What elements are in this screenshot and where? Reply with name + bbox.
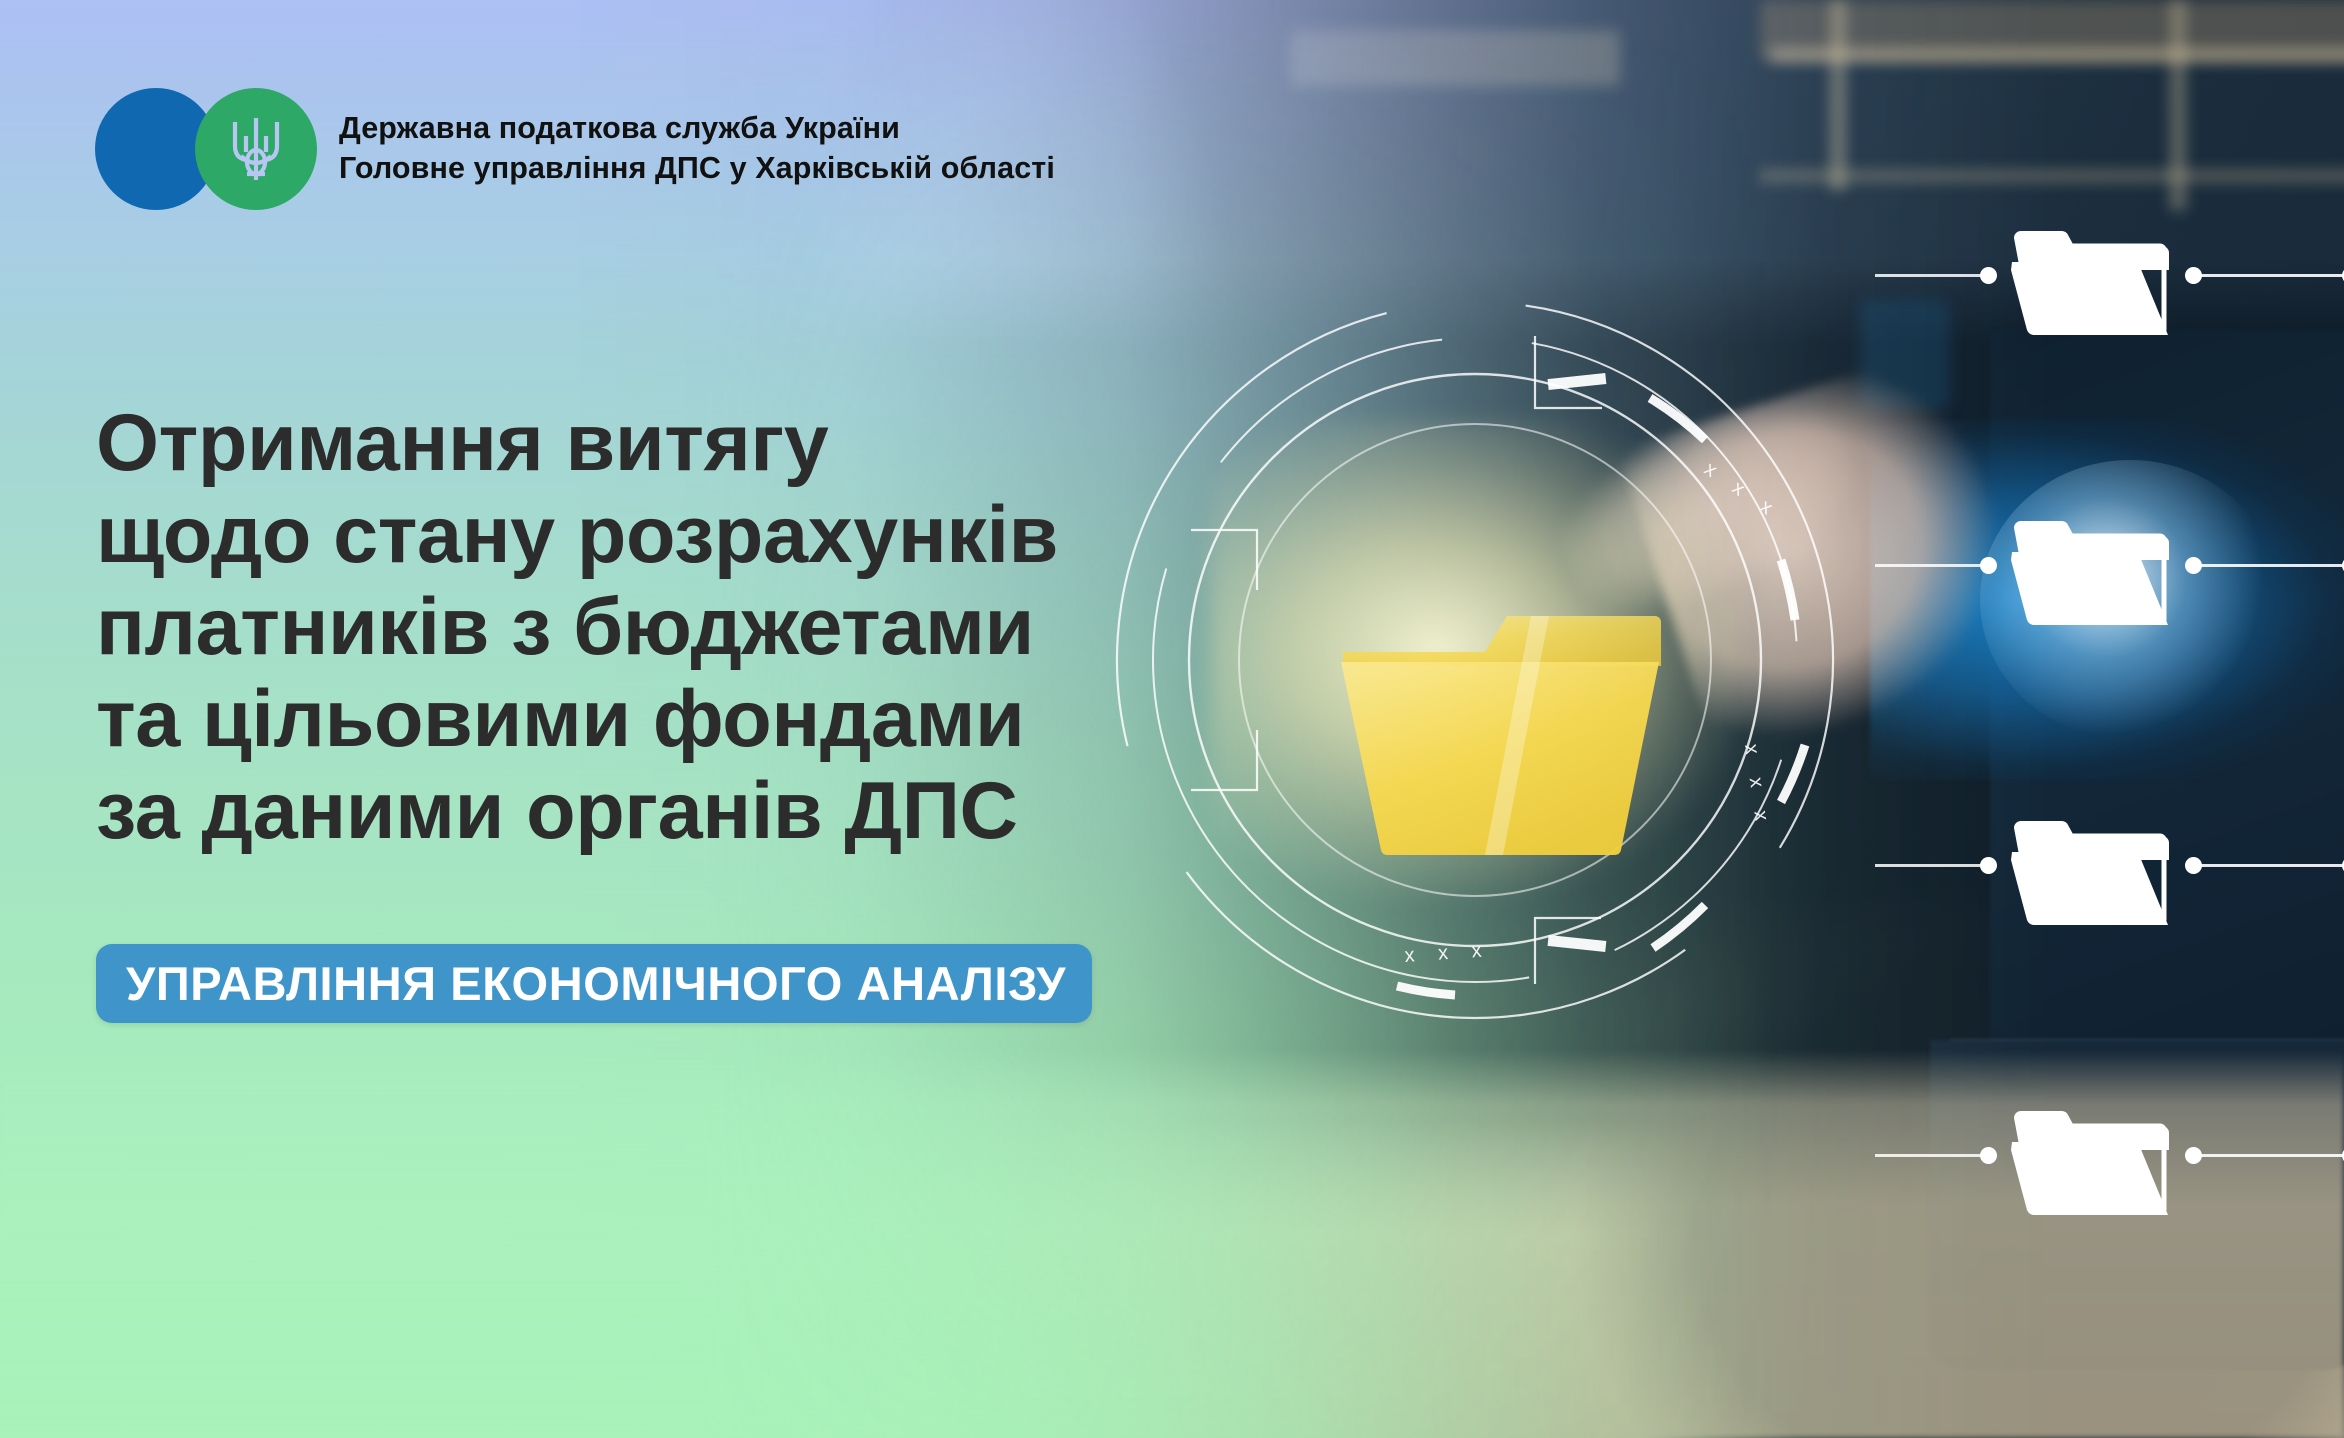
connector-line (2194, 1154, 2344, 1157)
trident-icon (225, 112, 287, 186)
logo-marks (95, 88, 317, 210)
headline-line-2: щодо стану розрахунків (96, 490, 1058, 582)
logo: Державна податкова служба України Головн… (95, 88, 1055, 210)
open-folder-icon (2010, 502, 2180, 632)
connector-stub (1875, 1154, 1985, 1157)
org-line-2: Головне управління ДПС у Харківській обл… (339, 149, 1055, 189)
banner-root: x x x x x x x x x (0, 0, 2344, 1438)
connector-line (2194, 864, 2344, 867)
document-flow-diagram (1860, 0, 2344, 1438)
open-folder-icon (2010, 212, 2180, 342)
department-badge-label: УПРАВЛІННЯ ЕКОНОМІЧНОГО АНАЛІЗУ (126, 956, 1066, 1011)
connector-stub (1875, 274, 1985, 277)
connector-line (2194, 274, 2344, 277)
department-badge: УПРАВЛІННЯ ЕКОНОМІЧНОГО АНАЛІЗУ (96, 944, 1092, 1023)
connector-dot (1980, 557, 1997, 574)
headline-line-1: Отримання витягу (96, 398, 1058, 490)
headline-line-4: та цільовими фондами (96, 674, 1058, 766)
org-text: Державна податкова служба України Головн… (339, 109, 1055, 188)
open-folder-icon (2010, 802, 2180, 932)
open-folder-icon (2010, 1092, 2180, 1222)
connector-stub (1875, 864, 1985, 867)
headline-line-5: за даними органів ДПС (96, 766, 1058, 858)
yellow-folder-icon (1335, 600, 1665, 860)
org-line-1: Державна податкова служба України (339, 109, 1055, 149)
connector-dot (1980, 1147, 1997, 1164)
headline-line-3: платників з бюджетами (96, 582, 1058, 674)
page-title: Отримання витягу щодо стану розрахунків … (96, 398, 1058, 858)
connector-line (2194, 564, 2344, 567)
connector-dot (1980, 267, 1997, 284)
connector-stub (1875, 564, 1985, 567)
connector-dot (1980, 857, 1997, 874)
